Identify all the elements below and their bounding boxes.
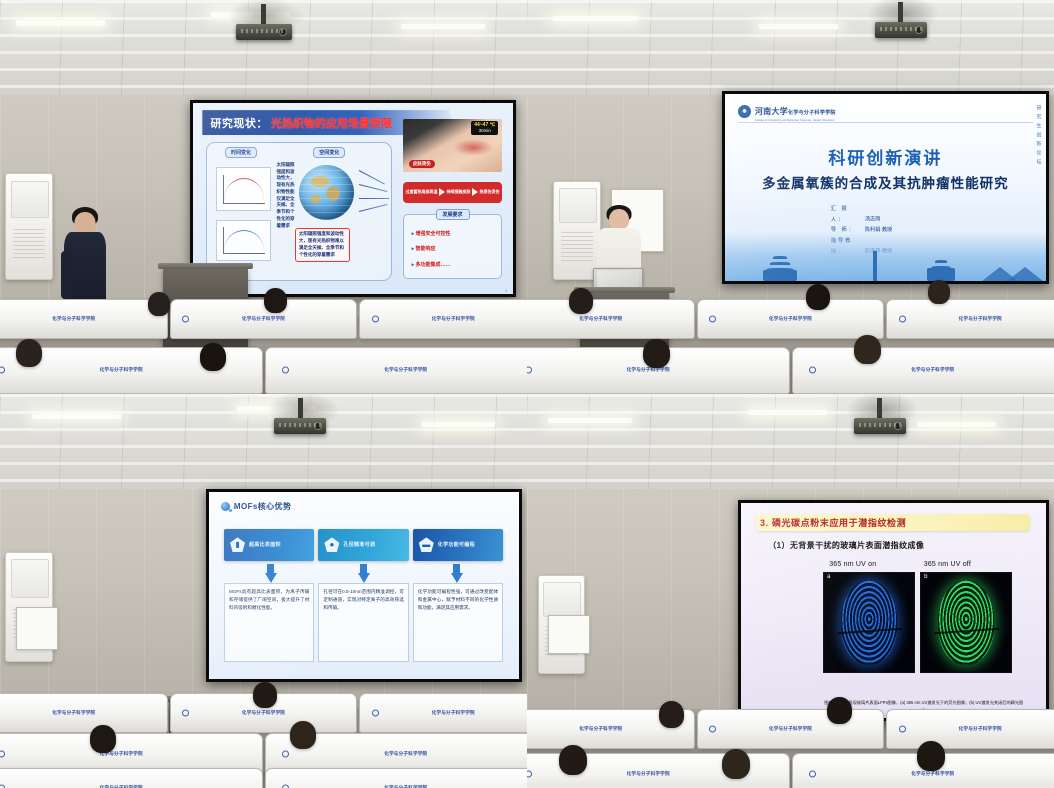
college-logo-icon [809,367,816,374]
ceiling-light [16,20,106,26]
sun-ray [359,204,388,212]
seat: 化学与分子科学学院 [527,299,695,338]
college-logo-icon [809,771,816,778]
seat-embroidery: 化学与分子科学学院 [384,751,427,757]
causal-arrow-chain: 过度蓄热局部高温 持续接触皮肤 热损伤烫伤 [403,182,502,203]
university-name-cn: 河南大学 [755,107,788,116]
tower-silhouette [873,251,877,281]
fingerprint-image-b: b [920,572,1012,673]
slide-header: MOFs核心优势 [221,501,291,512]
requirement-item: 多功能集成…… [412,261,451,268]
projection-screen: MOFs核心优势 ▮ 超高比表面积 ● 孔径精准可调 ▬ 化学功能可编程 [206,489,522,682]
droplet-icon: ● [324,537,339,552]
seat: 化学与分子科学学院 [0,299,168,338]
ceiling-light [548,418,632,423]
college-logo-icon [372,316,379,323]
divider [738,122,1033,123]
seat-embroidery: 化学与分子科学学院 [911,367,954,373]
bullet-dot-icon [221,502,230,511]
seat: 化学与分子科学学院 [265,347,528,394]
globe-graphic [299,165,354,220]
fingerprint-image-a: a [823,572,915,673]
slide-red-note: 太阳辐照强度和波动性大，现有光热织物难以满足全天候、全季节和个性化的穿着需求 [295,228,350,262]
mountain-silhouette [1007,267,1043,281]
advantage-card-label: 孔径精准可调 [343,541,375,548]
seat: 化学与分子科学学院 [697,299,885,338]
audience-head [928,280,950,304]
chart-bars-icon: ▮ [230,537,245,552]
seat-embroidery: 化学与分子科学学院 [769,316,812,322]
college-logo-icon [282,751,289,758]
arrow-right-icon [472,188,478,196]
seat-embroidery: 化学与分子科学学院 [100,367,143,373]
seat-embroidery: 化学与分子科学学院 [579,726,622,732]
ceiling-light [422,422,496,427]
seat: 化学与分子科学学院 [792,347,1054,394]
duration-value: 30min [479,128,491,133]
seat-embroidery: 化学与分子科学学院 [432,710,475,716]
advantage-card: ▮ 超高比表面积 [224,529,314,561]
audience-head [569,288,593,314]
slide-subtitle: （1）无背景干扰的玻璃片表面潜指纹成像 [768,540,924,551]
university-emblem-icon [738,105,751,118]
slide-page-number: 3 [505,288,507,293]
temperature-tag: 44~47 ℃ 30min [471,121,498,134]
irradiance-chart-bottom [216,220,271,261]
seat-embroidery: 化学与分子科学学院 [959,316,1002,322]
slide-subheading: 多金属氧簇的合成及其抗肿瘤性能研究 [725,172,1046,192]
requirements-title: 发展要求 [436,209,470,220]
whiteboard [548,615,590,654]
college-name-cn: 化学与分子科学学院 [788,110,836,116]
fingerprint-images: a b [823,572,1012,673]
advantage-descriptions: MOFs具有超高比表面积，为离子传输和存储提供了广阔空间，极大提升了材料的吸附和… [224,583,503,662]
audience-head [264,288,287,313]
college-logo-icon [282,367,289,374]
audience-head [148,292,170,316]
whiteboard [16,607,58,650]
ceiling-projector [875,2,927,42]
panel-bottom-left: MOFs核心优势 ▮ 超高比表面积 ● 孔径精准可调 ▬ 化学功能可编程 [0,394,527,788]
slide-title: 3. 磷光碳点粉末应用于潜指纹检测 [756,514,1030,531]
seat: 化学与分子科学学院 [359,299,527,338]
requirements-box: 发展要求 增强安全可控性 智能响应 多功能集成…… [403,214,502,279]
audience-head [559,745,587,775]
meta-key: 汇 报 人： [831,204,865,225]
arrow-down-icon [360,564,367,581]
panel-bottom-right: 3. 磷光碳点粉末应用于潜指纹检测 （1）无背景干扰的玻璃片表面潜指纹成像 36… [527,394,1054,788]
arrow-down-icon [453,564,460,581]
slide-title-main: 研究现状： [210,115,268,131]
seat: 化学与分子科学学院 [697,709,885,748]
burn-photo: 44~47 ℃ 30min 皮肤烫伤 [403,119,502,172]
uv-label-off: 365 nm UV off [924,561,971,568]
ceiling-light [553,16,637,21]
projection-screen: 3. 磷光碳点粉末应用于潜指纹检测 （1）无背景干扰的玻璃片表面潜指纹成像 36… [738,500,1049,721]
air-conditioner [5,173,52,279]
seat: 化学与分子科学学院 [886,299,1054,338]
ceiling-light [401,24,485,29]
sun-ray [359,198,388,199]
audience-head [917,741,945,771]
seat-row-back: 化学与分子科学学院 化学与分子科学学院 化学与分子科学学院 [527,709,1054,748]
seat: 化学与分子科学学院 [265,768,528,788]
college-logo-icon [0,751,5,758]
audience-head [200,343,226,371]
skyline-decoration [725,232,1046,281]
advantage-cards: ▮ 超高比表面积 ● 孔径精准可调 ▬ 化学功能可编程 [224,529,503,561]
slide-side-text: 研究生创新论坛 [1036,105,1043,168]
college-logo-icon [709,725,716,732]
seat-embroidery: 化学与分子科学学院 [579,316,622,322]
image-tag-a: a [827,574,830,580]
seat-embroidery: 化学与分子科学学院 [52,710,95,716]
chain-step: 过度蓄热局部高温 [406,190,438,195]
advantage-card: ▬ 化学功能可编程 [413,529,503,561]
slide-phosphorescent-cds: 3. 磷光碳点粉末应用于潜指纹检测 （1）无背景干扰的玻璃片表面潜指纹成像 36… [741,503,1046,718]
ceiling-projector [274,398,326,438]
projection-screen: 河南大学化学与分子科学学院 College of Chemistry and M… [722,91,1049,284]
seat-row-front: 化学与分子科学学院 化学与分子科学学院 [0,347,527,394]
seat-embroidery: 化学与分子科学学院 [911,771,954,777]
chain-step: 持续接触皮肤 [447,190,471,195]
college-logo-icon [372,710,379,717]
seat-row-front: 化学与分子科学学院 化学与分子科学学院 [0,768,527,788]
audience-head [290,721,316,749]
seat-embroidery: 化学与分子科学学院 [627,367,670,373]
sun-ray [359,170,385,185]
advantage-text: 化学功能可编程性强，可通过改变配体和金属中心，赋予材料不同的化学性质和功能，满足… [413,583,503,662]
uv-label-on: 365 nm UV on [829,561,876,568]
audience-head [643,339,670,368]
ceiling-light [32,414,122,419]
audience-head [806,284,830,310]
seat: 化学与分子科学学院 [0,693,168,732]
seat-embroidery: 化学与分子科学学院 [627,771,670,777]
advantage-text: 孔径可在0.5-10nm范围内精准调控，可定制通道，实现对特定离子的高效筛选和传… [318,583,408,662]
chain-step: 热损伤烫伤 [479,190,499,195]
seat-row-back: 化学与分子科学学院 化学与分子科学学院 化学与分子科学学院 [527,299,1054,338]
meta-row: 汇 报 人：汤志刚 [831,204,904,225]
advantage-card: ● 孔径精准可调 [318,529,408,561]
ceiling-light [759,24,838,29]
slide-body-frame: 时间变化 空间变化 太阳辐照强度和波动性大，现有光热织物性能仅满足全天候、全季节… [206,142,392,281]
ceiling-light [748,410,827,415]
audience-head [253,682,277,708]
requirement-item: 智能响应 [412,245,436,252]
requirement-item: 增强安全可控性 [412,230,451,237]
slide-title-page: 河南大学化学与分子科学学院 College of Chemistry and M… [725,94,1046,281]
advantage-text: MOFs具有超高比表面积，为离子传输和存储提供了广阔空间，极大提升了材料的吸附和… [224,583,314,662]
ceiling-projector [236,4,292,44]
audience-head [854,335,881,364]
label-time-change: 时间变化 [225,147,257,158]
seat-embroidery: 化学与分子科学学院 [432,316,475,322]
audience-head [722,749,750,779]
advantage-card-label: 化学功能可编程 [438,541,475,548]
photo-collage: 研究现状： 光热织物的应用场景受限 时间变化 空间变化 [0,0,1054,788]
toolbox-icon: ▬ [419,537,434,552]
panel-top-right: 河南大学化学与分子科学学院 College of Chemistry and M… [527,0,1054,394]
audience-head [659,701,684,728]
slide-title-accent: 光热织物的应用场景受限 [271,115,392,131]
irradiance-chart-top [216,167,271,211]
college-logo-icon [899,725,906,732]
sun-ray [359,184,388,192]
seat-row-front: 化学与分子科学学院 化学与分子科学学院 [527,753,1054,788]
college-logo-icon [182,316,189,323]
seat-embroidery: 化学与分子科学学院 [959,726,1002,732]
college-logo-icon [0,367,5,374]
audience-head [827,697,852,724]
slide-heading: MOFs核心优势 [234,501,291,512]
seat-embroidery: 化学与分子科学学院 [769,726,812,732]
college-logo-icon [709,316,716,323]
slide-heading: 科研创新演讲 [725,144,1046,169]
seat-embroidery: 化学与分子科学学院 [242,316,285,322]
skin-burn-tag: 皮肤烫伤 [409,160,435,168]
slide-mofs-advantages: MOFs核心优势 ▮ 超高比表面积 ● 孔径精准可调 ▬ 化学功能可编程 [209,492,519,679]
audience-head [16,339,42,367]
college-logo-icon [527,771,532,778]
seat: 化学与分子科学学院 [886,709,1054,748]
panel-top-left: 研究现状： 光热织物的应用场景受限 时间变化 空间变化 [0,0,527,394]
label-space-change: 空间变化 [313,147,345,158]
ceiling-projector [854,398,906,438]
ceiling-light [917,422,996,427]
seat-embroidery: 化学与分子科学学院 [242,710,285,716]
college-logo-icon [0,784,5,788]
image-tag-b: b [924,574,927,580]
down-arrows [224,564,503,581]
air-conditioner [553,181,600,280]
pagoda-silhouette [763,255,797,281]
advantage-card-label: 超高比表面积 [249,541,281,548]
slide-blue-note: 太阳辐照强度和波动性大，现有光热织物性能仅满足全天候、全季节和个性化的穿着需求 [276,162,296,230]
seat: 化学与分子科学学院 [0,768,263,788]
arrow-down-icon [267,564,274,581]
seat: 化学与分子科学学院 [359,693,527,732]
pagoda-silhouette [924,255,958,281]
college-logo-icon [182,710,189,717]
arrow-right-icon [439,188,445,196]
audience-head [90,725,116,753]
seat-embroidery: 化学与分子科学学院 [52,316,95,322]
seat-row-front: 化学与分子科学学院 化学与分子科学学院 [527,347,1054,394]
college-logo-icon [527,367,532,374]
meta-value: 汤志刚 [865,217,881,223]
university-logo: 河南大学化学与分子科学学院 College of Chemistry and M… [738,101,836,122]
seat-embroidery: 化学与分子科学学院 [384,367,427,373]
college-logo-icon [282,784,289,788]
college-logo-icon [899,316,906,323]
